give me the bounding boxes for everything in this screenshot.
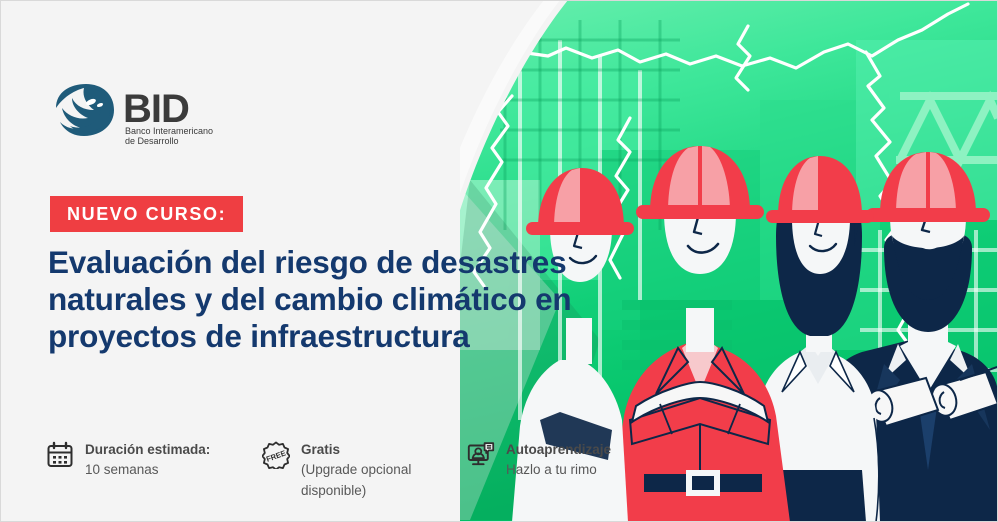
feature-price: FREE Gratis (Upgrade opcional disponible… (262, 440, 467, 501)
free-badge-icon: FREE (262, 441, 290, 469)
bid-logo-mark (56, 84, 114, 136)
bid-logo-acronym: BID (123, 87, 189, 131)
course-promo-banner: BID Banco Interamericano de Desarrollo N… (0, 0, 998, 522)
feature-modality: Autoaprendizaje Hazlo a tu rimo (467, 440, 697, 481)
new-course-badge: NUEVO CURSO: (50, 196, 243, 232)
feature-modality-title: Autoaprendizaje (506, 442, 611, 457)
feature-modality-note: Hazlo a tu rimo (506, 462, 597, 477)
monitor-elearning-icon (467, 441, 495, 469)
feature-duration-title: Duración estimada: (85, 442, 210, 457)
feature-price-note: (Upgrade opcional disponible) (301, 462, 411, 497)
course-features: Duración estimada: 10 semanas FREE Grati… (46, 440, 697, 501)
feature-price-title: Gratis (301, 442, 340, 457)
course-title: Evaluación del riesgo de desastres natur… (48, 244, 578, 355)
bid-logo-tagline-line1: Banco Interamericano (125, 126, 213, 136)
feature-duration-value: 10 semanas (85, 462, 159, 477)
svg-text:FREE: FREE (265, 448, 287, 463)
bid-logo-tagline-line2: de Desarrollo (125, 136, 179, 146)
bid-logo: BID Banco Interamericano de Desarrollo (50, 82, 250, 148)
calendar-icon (46, 441, 74, 469)
feature-duration: Duración estimada: 10 semanas (46, 440, 262, 481)
